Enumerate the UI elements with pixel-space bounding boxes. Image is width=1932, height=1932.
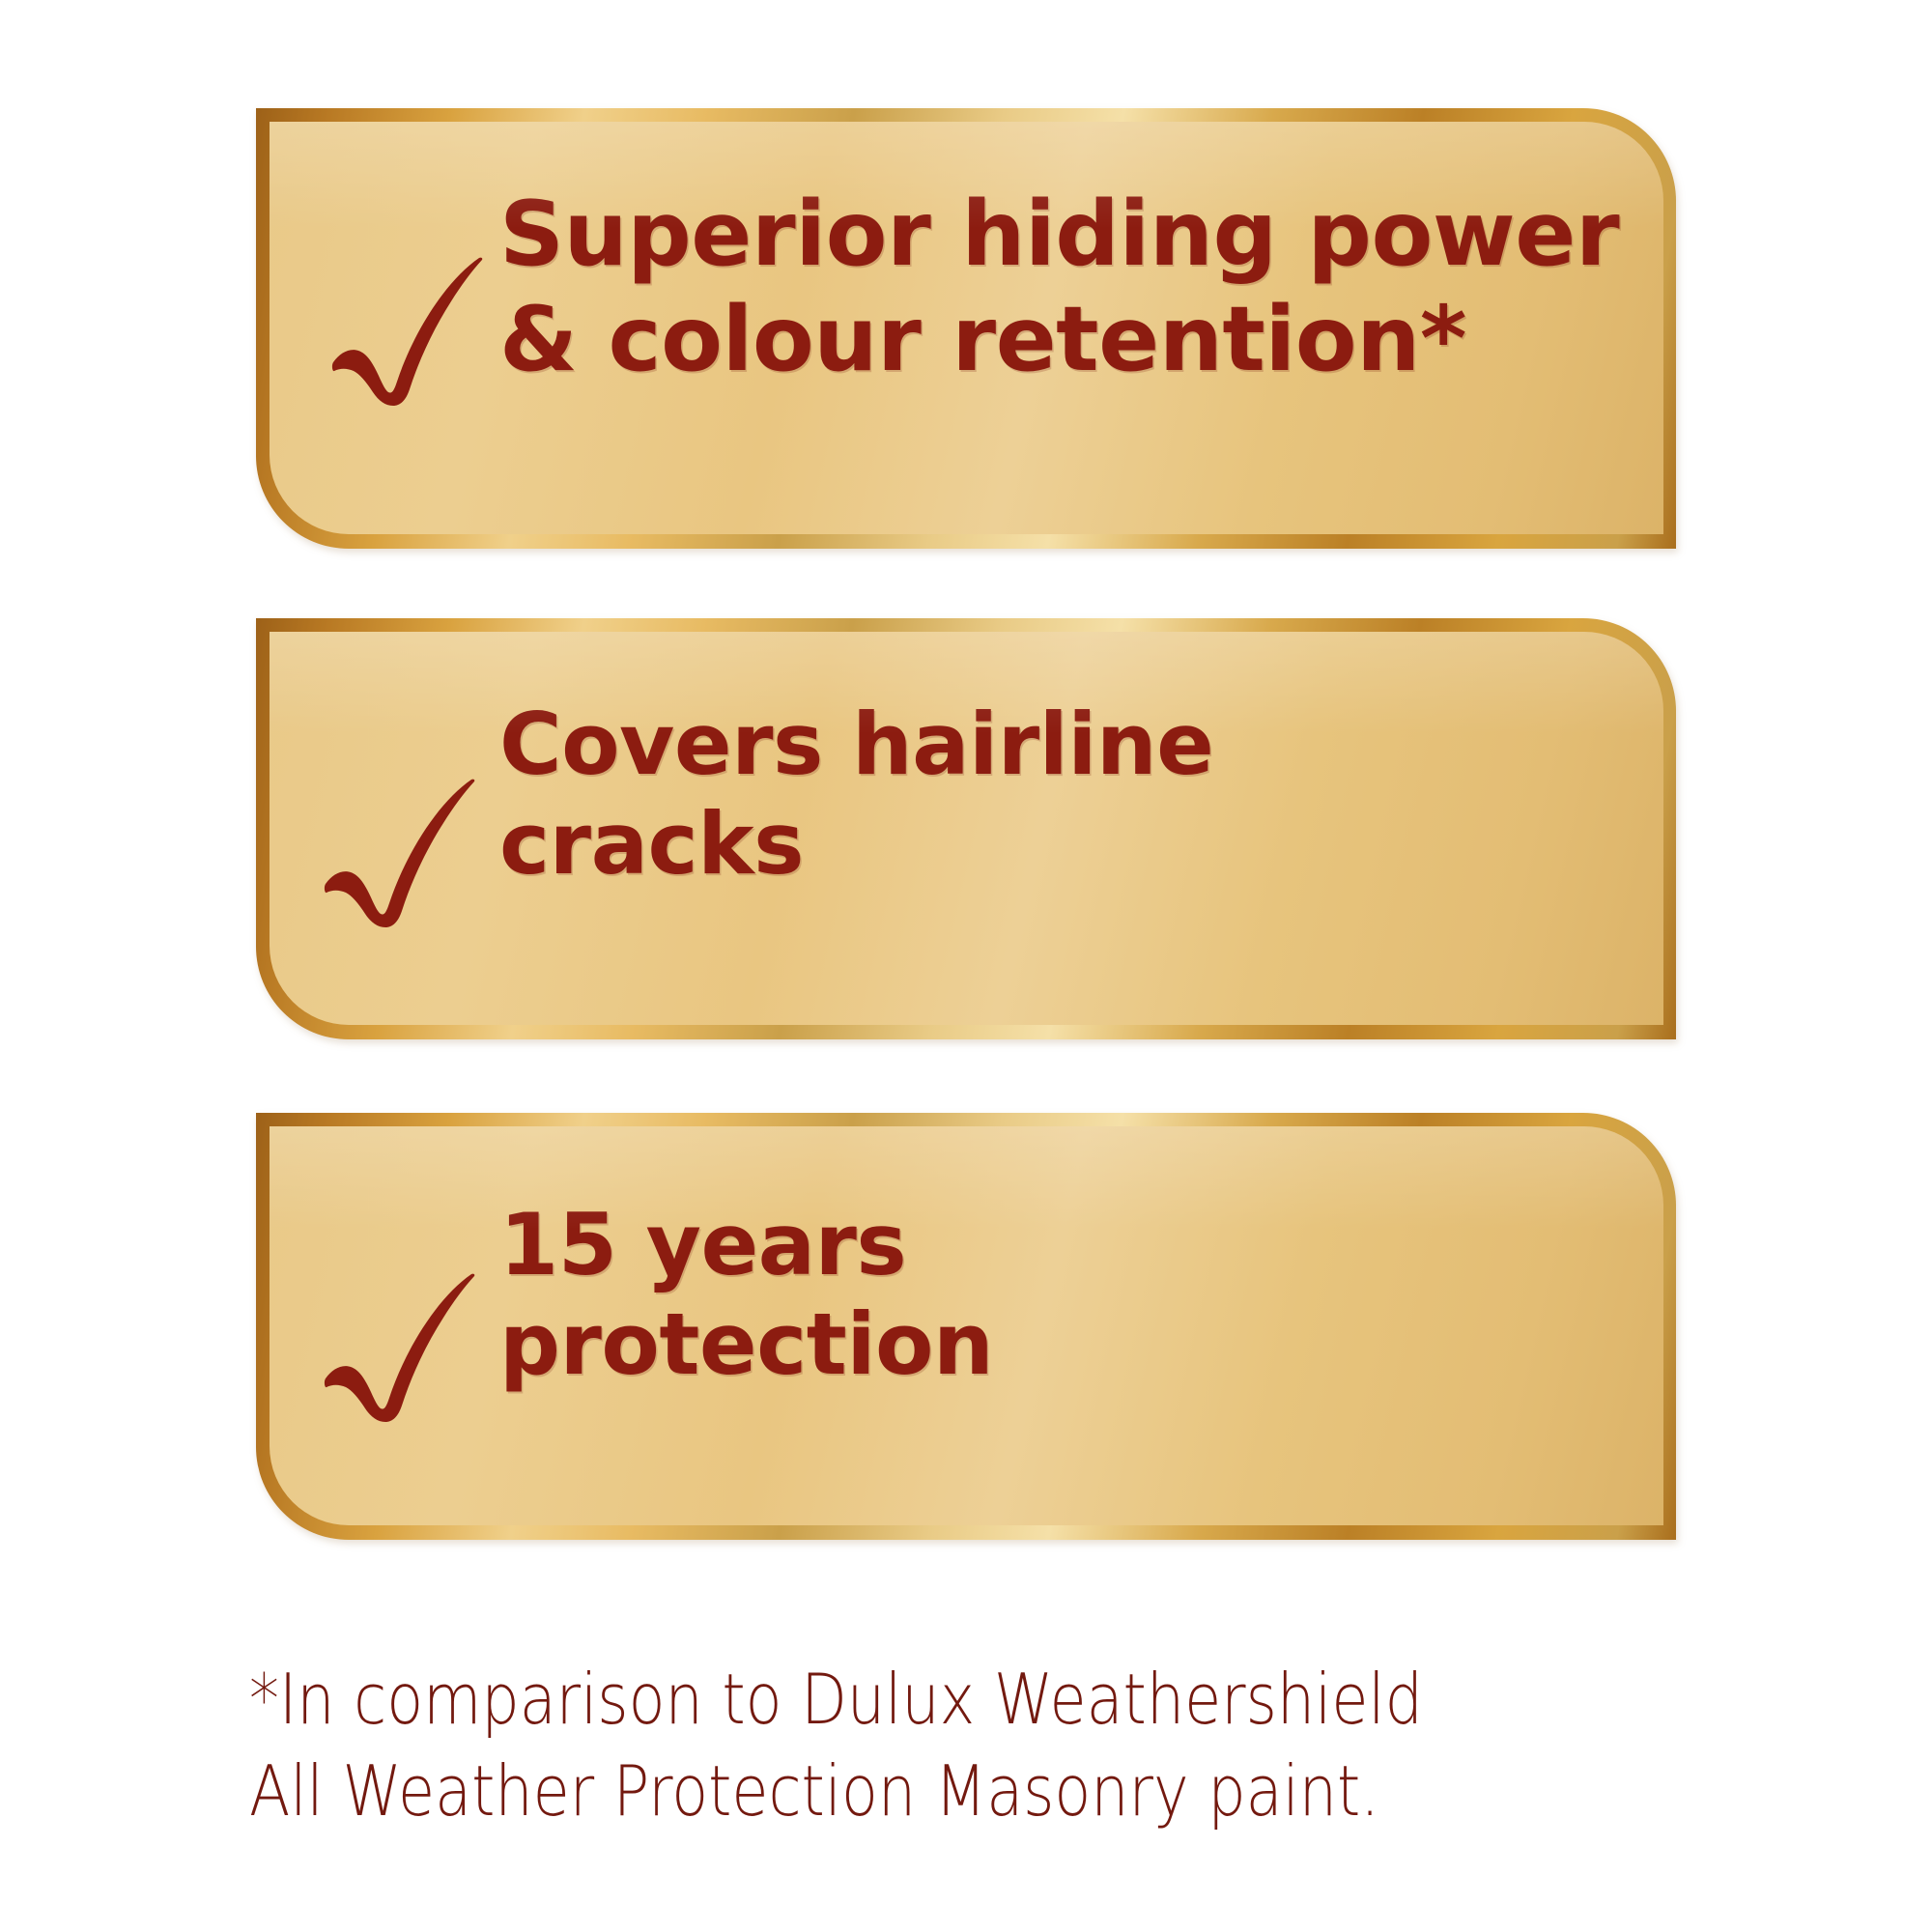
feature-card-inner: Covers hairline cracks xyxy=(270,632,1663,1025)
checkmark-icon-wrap xyxy=(308,1252,492,1422)
feature-text-line: Covers hairline xyxy=(499,696,1639,795)
checkmark-icon-wrap xyxy=(316,236,499,406)
feature-card-inner: 15 years protection xyxy=(270,1126,1663,1525)
feature-card-superior-hiding-power: Superior hiding power & colour retention… xyxy=(256,108,1676,549)
feature-card-inner: Superior hiding power & colour retention… xyxy=(270,122,1663,534)
footnote-line: *In comparison to Dulux Weathershield xyxy=(249,1654,1512,1746)
feature-card-text: 15 years protection xyxy=(499,1196,1639,1395)
feature-text-line: Superior hiding power xyxy=(499,182,1639,287)
feature-text-line: cracks xyxy=(499,795,1639,895)
feature-card-covers-hairline-cracks: Covers hairline cracks xyxy=(256,618,1676,1039)
feature-text-line: protection xyxy=(499,1295,1639,1395)
feature-text-line: & colour retention* xyxy=(499,287,1639,392)
checkmark-icon-wrap xyxy=(308,757,492,927)
footnote-line: All Weather Protection Masonry paint. xyxy=(249,1746,1512,1837)
feature-card-text: Superior hiding power & colour retention… xyxy=(499,182,1639,392)
checkmark-icon xyxy=(330,236,485,406)
footnote-disclaimer: *In comparison to Dulux Weathershield Al… xyxy=(249,1654,1512,1837)
feature-card-fifteen-years-protection: 15 years protection xyxy=(256,1113,1676,1540)
feature-benefits-panel: Superior hiding power & colour retention… xyxy=(0,0,1932,1932)
feature-card-text: Covers hairline cracks xyxy=(499,696,1639,895)
feature-text-line: 15 years xyxy=(499,1196,1639,1295)
checkmark-icon xyxy=(323,1252,477,1422)
checkmark-icon xyxy=(323,757,477,927)
